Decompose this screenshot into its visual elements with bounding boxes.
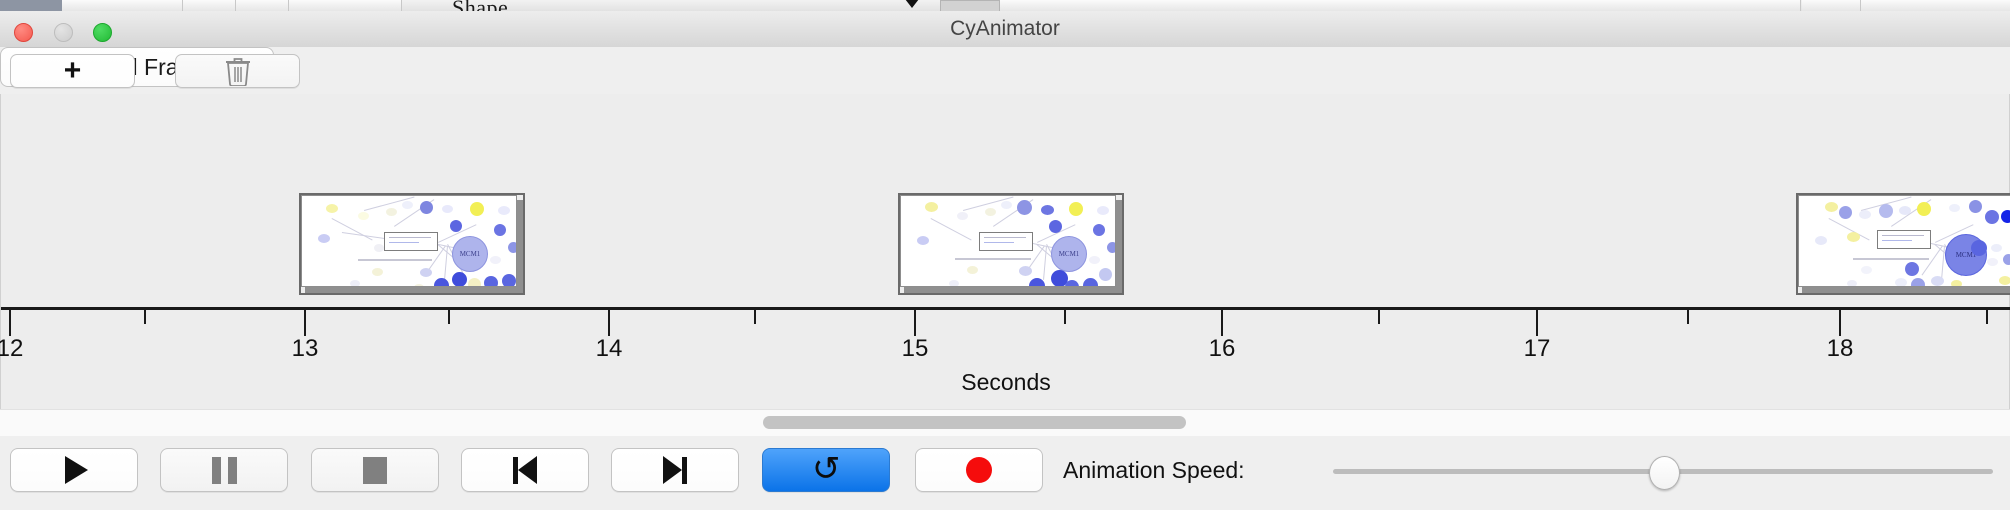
tick-major [1536, 310, 1538, 336]
tick-label: 15 [902, 335, 929, 363]
record-icon [966, 457, 992, 483]
background-segment [1861, 0, 2010, 11]
add-frame-button[interactable]: + [10, 54, 135, 88]
tick-major [9, 310, 11, 336]
background-titlebar-dark [0, 0, 62, 11]
frame-thumbnail-3[interactable]: MCM1 [1798, 195, 2010, 293]
background-window-strip: Shape [0, 0, 2010, 11]
loop-icon: ↻ [812, 452, 841, 486]
delete-frame-button[interactable] [175, 54, 300, 88]
tick-minor [144, 310, 146, 324]
background-segment [183, 0, 236, 11]
timeline-ruler[interactable]: 12 13 14 15 16 17 18 Seconds [1, 307, 2010, 402]
animation-speed-slider[interactable] [1333, 448, 1993, 492]
background-window-label: Shape [452, 0, 508, 11]
frame-selection-border [898, 193, 1124, 295]
title-bar[interactable]: CyAnimator [0, 11, 2010, 48]
skip-to-end-button[interactable] [611, 448, 739, 492]
tick-label: 12 [0, 335, 23, 363]
scrollbar-thumb[interactable] [763, 416, 1186, 429]
trash-icon [176, 55, 299, 87]
tick-major [1221, 310, 1223, 336]
tick-label: 16 [1209, 335, 1236, 363]
frame-selection-border [299, 193, 525, 295]
play-button[interactable] [10, 448, 138, 492]
tick-major [1839, 310, 1841, 336]
tick-label: 13 [292, 335, 319, 363]
slider-thumb[interactable] [1649, 456, 1680, 490]
record-button[interactable] [915, 448, 1043, 492]
tick-label: 17 [1524, 335, 1551, 363]
skip-back-icon [513, 456, 537, 484]
stop-button[interactable] [311, 448, 439, 492]
tick-major [304, 310, 306, 336]
ruler-baseline [1, 307, 2010, 310]
frame-thumbnail-1[interactable]: MCM1 [301, 195, 523, 293]
animation-speed-label: Animation Speed: [1063, 448, 1245, 492]
timeline-scrollbar[interactable] [0, 409, 2010, 437]
pause-icon [212, 457, 237, 484]
skip-to-start-button[interactable] [461, 448, 589, 492]
tick-label: 18 [1827, 335, 1854, 363]
plus-icon: + [11, 55, 134, 87]
background-caret-icon [905, 0, 919, 8]
timeline-panel[interactable]: MCM1 [0, 94, 2010, 409]
playback-controls: ↻ Animation Speed: [0, 436, 2010, 510]
background-segment [289, 0, 402, 11]
play-icon [65, 456, 88, 484]
frame-toolbar: + Clear All Frames [0, 47, 2010, 95]
tick-minor [754, 310, 756, 324]
tick-minor [1986, 310, 1988, 324]
background-segment [236, 0, 289, 11]
window-title: CyAnimator [0, 11, 2010, 47]
frame-selection-border [1796, 193, 2010, 295]
tick-minor [1687, 310, 1689, 324]
tick-minor [1378, 310, 1380, 324]
background-box [940, 0, 1000, 11]
background-segment [1000, 0, 1801, 11]
background-segment [62, 0, 183, 11]
axis-title: Seconds [1, 369, 2010, 396]
tick-minor [448, 310, 450, 324]
skip-forward-icon [663, 456, 687, 484]
tick-major [608, 310, 610, 336]
stop-icon [363, 457, 387, 484]
background-segment [1802, 0, 1861, 11]
pause-button[interactable] [160, 448, 288, 492]
tick-label: 14 [596, 335, 623, 363]
cyanimator-window: Shape CyAnimator + [0, 0, 2010, 510]
frame-thumbnail-2[interactable]: MCM1 [900, 195, 1122, 293]
tick-minor [1064, 310, 1066, 324]
tick-major [914, 310, 916, 336]
loop-button[interactable]: ↻ [762, 448, 890, 492]
frames-track[interactable]: MCM1 [1, 94, 2010, 307]
